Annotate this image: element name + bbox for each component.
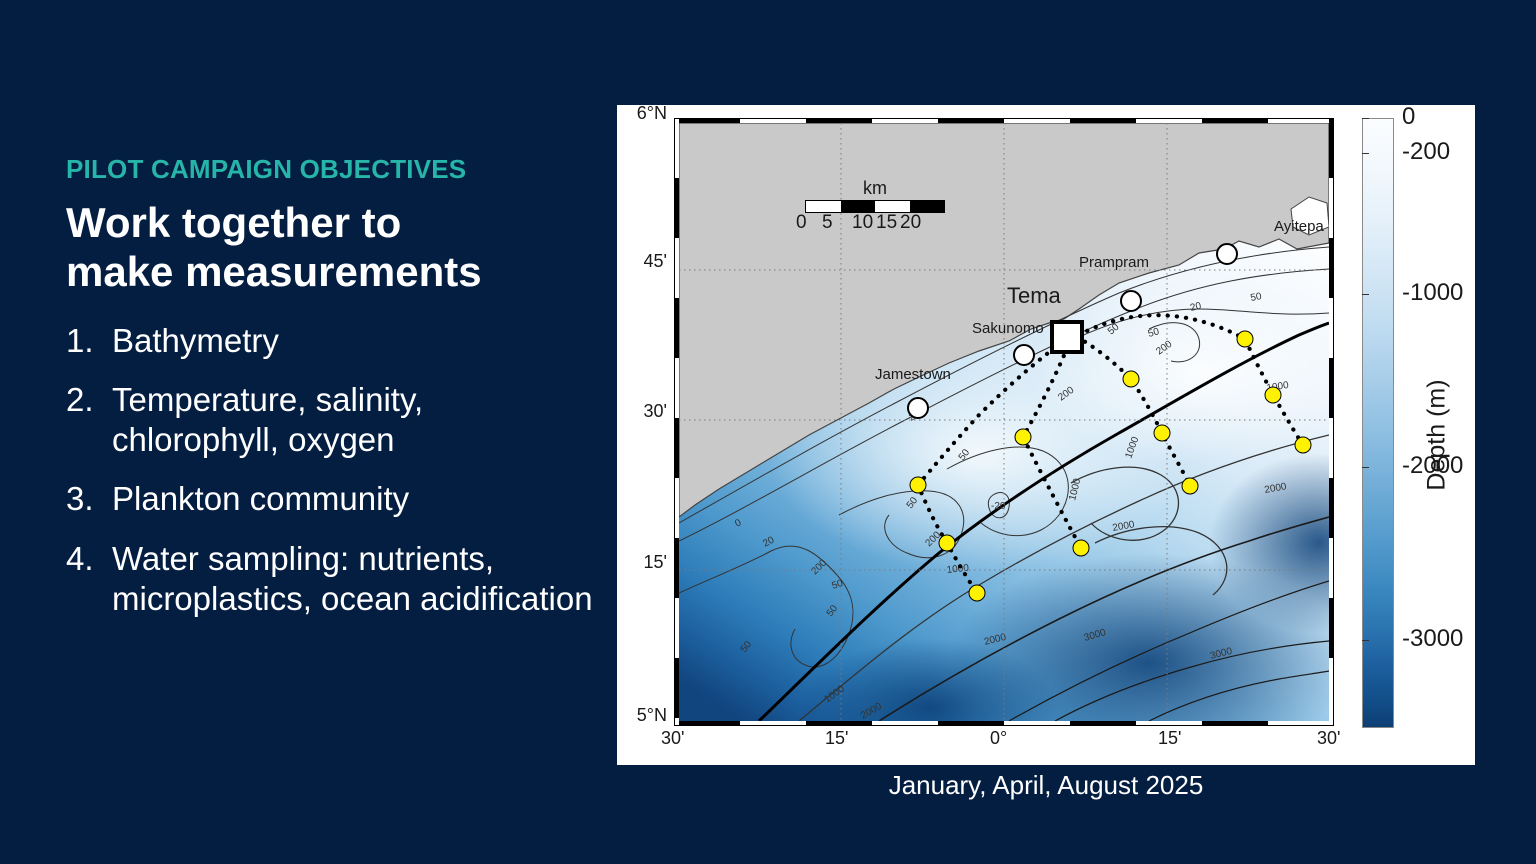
sampling-station-marker[interactable]	[1015, 429, 1032, 446]
sampling-station-marker[interactable]	[1295, 437, 1312, 454]
scale-tick-10: 10	[852, 212, 876, 234]
objectives-list: 1. Bathymetry 2. Temperature, salinity, …	[66, 321, 596, 620]
list-item-number: 1.	[66, 321, 112, 361]
list-item: 2. Temperature, salinity, chlorophyll, o…	[66, 380, 596, 461]
coastal-station-marker[interactable]	[1120, 290, 1142, 312]
y-axis-tick-15: 15'	[615, 552, 667, 573]
scale-bar: km 0 5 10 15 20	[805, 178, 945, 234]
figure-caption: January, April, August 2025	[617, 770, 1475, 801]
y-axis-tick-30: 30'	[615, 401, 667, 422]
map-frame-right	[1329, 118, 1334, 726]
colorbar-label-1000: -1000	[1402, 279, 1463, 307]
list-item: 1. Bathymetry	[66, 321, 596, 361]
scale-tick-5: 5	[822, 212, 852, 234]
sampling-station-marker[interactable]	[1237, 331, 1254, 348]
colorbar-label-3000: -3000	[1402, 625, 1463, 653]
sampling-station-marker[interactable]	[1073, 540, 1090, 557]
x-axis-tick-e15: 15'	[1158, 728, 1181, 749]
objectives-text-column: PILOT CAMPAIGN OBJECTIVES Work together …	[66, 155, 596, 638]
y-axis-tick-45: 45'	[615, 251, 667, 272]
scale-tick-15: 15	[876, 212, 900, 234]
list-item-number: 2.	[66, 380, 112, 461]
bathymetry-figure-panel: 6°N 45' 30' 15' 5°N 30' 15' 0° 15' 30'	[617, 105, 1475, 765]
scale-tick-20: 20	[900, 212, 924, 234]
coastal-station-marker[interactable]	[1216, 243, 1238, 265]
list-item: 4. Water sampling: nutrients, microplast…	[66, 539, 596, 620]
colorbar-label-200: -200	[1402, 138, 1450, 166]
map-plot-area[interactable]: 0 20 20 20 50 50 50 50 50 50 50 50 -20 2…	[679, 123, 1329, 721]
list-item-label: Plankton community	[112, 479, 596, 519]
sampling-station-marker[interactable]	[939, 535, 956, 552]
sampling-station-marker[interactable]	[910, 477, 927, 494]
sampling-station-marker[interactable]	[1123, 371, 1140, 388]
colorbar-tick-0	[1362, 118, 1369, 119]
map-axes: 0 20 20 20 50 50 50 50 50 50 50 50 -20 2…	[674, 118, 1334, 726]
coastal-station-marker[interactable]	[1013, 344, 1035, 366]
sampling-station-marker[interactable]	[1265, 387, 1282, 404]
x-axis-tick-0: 0°	[990, 728, 1007, 749]
x-axis-tick-w15: 15'	[825, 728, 848, 749]
depth-colorbar	[1362, 118, 1394, 728]
colorbar-tick-200	[1362, 153, 1369, 154]
x-axis-tick-w30: 30'	[661, 728, 684, 749]
place-label-prampram: Prampram	[1079, 254, 1149, 271]
list-item-label: Bathymetry	[112, 321, 596, 361]
sampling-station-marker[interactable]	[1154, 425, 1171, 442]
scale-tick-0: 0	[796, 212, 822, 234]
scale-bar-unit-label: km	[805, 178, 945, 199]
y-axis-label-5N: 5°N	[611, 705, 667, 726]
sampling-station-marker[interactable]	[969, 585, 986, 602]
bathymetry-raster: 0 20 20 20 50 50 50 50 50 50 50 50 -20 2…	[679, 123, 1329, 721]
place-label-tema: Tema	[1007, 283, 1061, 309]
colorbar-tick-1000	[1362, 294, 1369, 295]
sampling-station-marker[interactable]	[1182, 478, 1199, 495]
list-item-number: 3.	[66, 479, 112, 519]
list-item-label: Temperature, salinity, chlorophyll, oxyg…	[112, 380, 596, 461]
x-axis-tick-e30: 30'	[1317, 728, 1340, 749]
coastal-station-marker[interactable]	[907, 397, 929, 419]
y-axis-label-6N: 6°N	[615, 103, 667, 124]
place-label-jamestown: Jamestown	[875, 366, 951, 383]
list-item-number: 4.	[66, 539, 112, 620]
colorbar-tick-3000	[1362, 640, 1369, 641]
page-title: Work together to make measurements	[66, 198, 596, 297]
place-label-ayitepa: Ayitepa	[1274, 218, 1324, 235]
contour-label-m20: -20	[991, 501, 1006, 512]
harbour-square-marker[interactable]	[1050, 320, 1084, 354]
list-item: 3. Plankton community	[66, 479, 596, 519]
colorbar-tick-2000	[1362, 467, 1369, 468]
eyebrow-heading: PILOT CAMPAIGN OBJECTIVES	[66, 155, 596, 184]
headline-line-1: Work together to	[66, 198, 596, 248]
scale-bar-ticks: 0 5 10 15 20	[805, 212, 945, 234]
map-frame-top	[674, 118, 1334, 123]
figure-title	[617, 101, 1475, 115]
colorbar-axis-title: Depth (m)	[1423, 379, 1452, 490]
place-label-sakunomo: Sakunomo	[972, 320, 1044, 337]
list-item-label: Water sampling: nutrients, microplastics…	[112, 539, 596, 620]
map-frame-left	[674, 118, 679, 726]
map-frame-bottom	[674, 721, 1334, 726]
colorbar-label-0: 0	[1402, 103, 1415, 131]
headline-line-2: make measurements	[66, 247, 596, 297]
